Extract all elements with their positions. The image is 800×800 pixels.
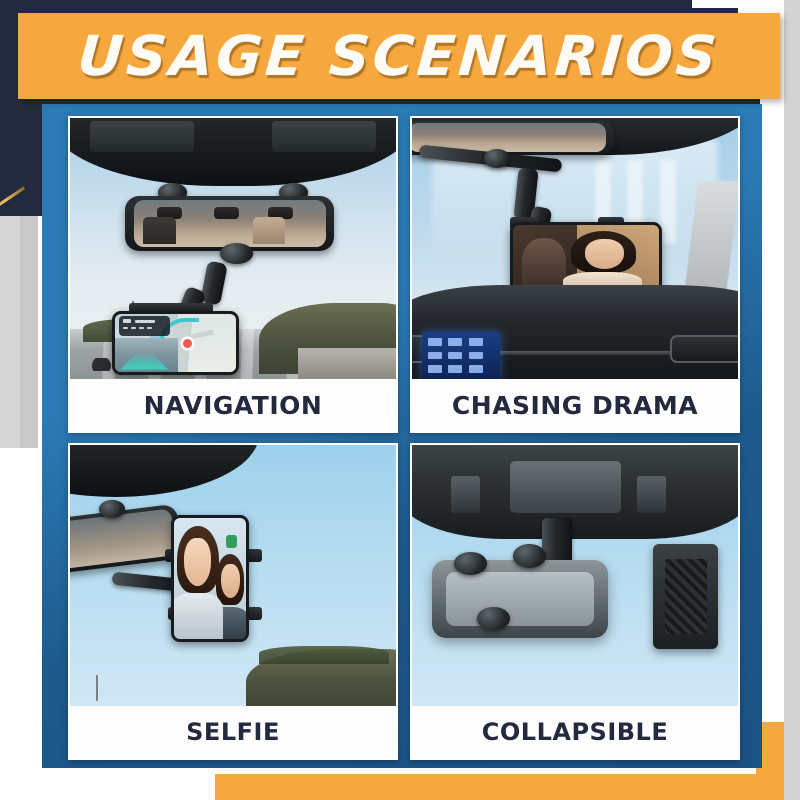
console-button-right (637, 476, 666, 513)
grey-right-edge (784, 0, 800, 800)
rearview-mirror-mount-video-photo (412, 118, 738, 379)
mirror-pivot-knob (220, 243, 253, 264)
hud-line-4 (131, 327, 136, 329)
orange-bottom-band (215, 774, 800, 800)
video-frame (513, 225, 660, 293)
selfie-person-1-face (184, 538, 211, 586)
map-view (115, 314, 236, 371)
phone-clamp-folded (653, 544, 718, 648)
sun-visor-left (90, 121, 194, 152)
ridge-trees (259, 646, 389, 664)
ar-lane-guide (120, 355, 168, 370)
mount-knob-bottom (477, 607, 510, 630)
display-row-4 (428, 352, 442, 359)
scenario-card-navigation[interactable]: NAVIGATION (68, 116, 398, 433)
phone-screen-navigation (115, 314, 236, 371)
video-actress-face (585, 239, 625, 269)
display-row-3 (469, 338, 483, 345)
selfie-background-badge (226, 535, 237, 548)
background-blur-bar-3 (660, 160, 676, 244)
air-vent-right (670, 335, 738, 363)
hud-line-6 (147, 327, 152, 329)
rear-headrest-mid (214, 207, 239, 219)
display-row-5 (448, 352, 462, 359)
display-row-8 (448, 365, 462, 372)
grey-left-band-inner (0, 216, 20, 448)
scenario-infographic: USAGE SCENARIOS (0, 0, 800, 800)
clamp-grip-pad (665, 559, 707, 634)
roadside-wall (298, 348, 396, 379)
phone-screen-selfie (174, 518, 246, 638)
map-ar-camera-view (115, 338, 178, 371)
scenario-label-collapsible: COLLAPSIBLE (482, 718, 668, 746)
scenario-label-selfie: SELFIE (186, 718, 280, 746)
scenario-card-chasing-drama[interactable]: CHASING DRAMA (410, 116, 740, 433)
selfie-person-2-face (221, 564, 240, 598)
hud-line-2 (135, 320, 155, 323)
mount-knob-mid (513, 544, 546, 567)
scenario-caption: CHASING DRAMA (412, 379, 738, 431)
title-banner: USAGE SCENARIOS (18, 13, 780, 99)
page-title: USAGE SCENARIOS (76, 24, 722, 88)
infotainment-display (422, 332, 500, 379)
rearview-mirror-mount-navigation-photo (70, 118, 396, 379)
utility-pole (96, 675, 98, 701)
display-row-7 (428, 365, 442, 372)
hud-line-3 (123, 327, 128, 329)
scenario-card-selfie[interactable]: SELFIE (68, 443, 398, 760)
rearview-mirror-mount-folded-photo (412, 445, 738, 706)
mirror-pivot-knob (484, 149, 510, 167)
display-row-6 (469, 352, 483, 359)
phone-screen-video (513, 225, 660, 293)
mirror-glass (134, 200, 326, 247)
rear-seat-left (143, 217, 176, 244)
display-row-9 (469, 365, 483, 372)
scenario-caption: NAVIGATION (70, 379, 396, 431)
rearview-mirror-mount-selfie-photo (70, 445, 396, 706)
hud-line-5 (139, 327, 144, 329)
folded-mount-inner (446, 572, 594, 625)
scenario-grid: NAVIGATION (68, 116, 740, 760)
navigation-hud (119, 316, 170, 336)
scenario-caption: SELFIE (70, 706, 396, 758)
console-panel (510, 461, 621, 513)
selfie-person-1-body (174, 593, 223, 639)
hud-line-1 (123, 319, 131, 323)
mounted-phone-portrait (171, 515, 249, 641)
rear-seat-right (253, 217, 286, 244)
scenario-card-collapsible[interactable]: COLLAPSIBLE (410, 443, 740, 760)
display-row-2 (448, 338, 462, 345)
console-button-left (451, 476, 480, 513)
sun-visor-right (272, 121, 376, 152)
video-person-silhouette (522, 238, 566, 288)
scenario-label-navigation: NAVIGATION (144, 391, 323, 420)
selfie-image (174, 518, 246, 638)
scenario-label-chasing-drama: CHASING DRAMA (452, 391, 698, 420)
scenario-caption: COLLAPSIBLE (412, 706, 738, 758)
mounted-phone (112, 311, 239, 374)
display-row-1 (428, 338, 442, 345)
